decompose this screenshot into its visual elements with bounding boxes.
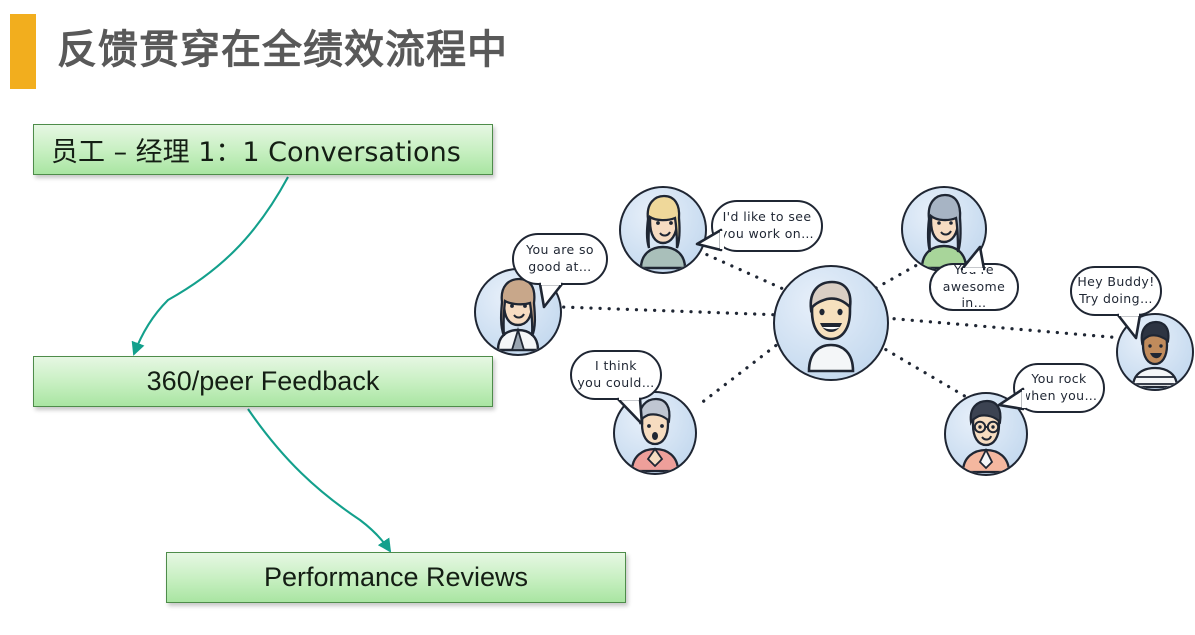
bubble-line-2: when you… (1021, 388, 1098, 405)
avatar-center-person[interactable] (773, 265, 889, 381)
speech-bubble-person-right: Hey Buddy! Try doing… (1070, 266, 1162, 316)
bubble-line-1: You are so (526, 242, 594, 259)
speech-bubble-person-left-text: You are so good at… (526, 242, 594, 276)
speech-bubble-person-top-right: You're awesome in… (929, 263, 1019, 311)
connector-center-to-right (885, 318, 1122, 338)
bubble-tail (997, 387, 1027, 413)
arrow-feedback-to-reviews (248, 409, 390, 551)
connector-center-to-bottom-left (700, 340, 783, 404)
process-box-reviews[interactable]: Performance Reviews (166, 552, 626, 603)
bubble-tail (536, 283, 566, 309)
bubble-line-2: you work on… (720, 226, 814, 243)
bubble-line-2: awesome in… (931, 279, 1017, 313)
avatar-person-top-left[interactable] (619, 186, 707, 274)
bubble-line-2: you could… (577, 375, 654, 392)
bubble-line-1: I think (577, 358, 654, 375)
speech-bubble-person-bottom-right-text: You rock when you… (1021, 371, 1098, 405)
bubble-tail (958, 245, 988, 271)
speech-bubble-person-bottom-left-text: I think you could… (577, 358, 654, 392)
speech-bubble-person-bottom-right: You rock when you… (1013, 363, 1105, 413)
bubble-line-2: good at… (526, 259, 594, 276)
process-box-feedback[interactable]: 360/peer Feedback (33, 356, 493, 407)
bubble-line-1: You rock (1021, 371, 1098, 388)
connector-center-to-top-left (692, 248, 790, 292)
process-box-reviews-label: Performance Reviews (264, 562, 528, 593)
process-box-feedback-label: 360/peer Feedback (147, 366, 380, 397)
process-box-conversations-label: 员工 – 经理 1：1 Conversations (51, 130, 461, 169)
avatar-center-illustration (775, 267, 887, 379)
bubble-line-1: Hey Buddy! (1077, 274, 1154, 291)
arrow-conversations-to-feedback (134, 177, 288, 354)
bubble-tail (616, 398, 648, 426)
bubble-line-2: Try doing… (1077, 291, 1154, 308)
speech-bubble-person-bottom-left: I think you could… (570, 350, 662, 400)
page-title: 反馈贯穿在全绩效流程中 (57, 17, 508, 75)
speech-bubble-person-top-left-text: I'd like to see you work on… (720, 209, 814, 243)
bubble-tail (695, 228, 725, 254)
network-connector-layer (0, 0, 1195, 635)
avatar-person-top-left-illustration (621, 188, 705, 272)
connector-center-to-left (562, 307, 782, 315)
bubble-line-1: I'd like to see (720, 209, 814, 226)
bubble-tail (1116, 314, 1146, 340)
process-box-conversations[interactable]: 员工 – 经理 1：1 Conversations (33, 124, 493, 175)
title-accent-bar (10, 14, 36, 89)
speech-bubble-person-right-text: Hey Buddy! Try doing… (1077, 274, 1154, 308)
speech-bubble-person-left: You are so good at… (512, 233, 608, 285)
process-arrow-layer (0, 0, 1195, 635)
speech-bubble-person-top-left: I'd like to see you work on… (711, 200, 823, 252)
